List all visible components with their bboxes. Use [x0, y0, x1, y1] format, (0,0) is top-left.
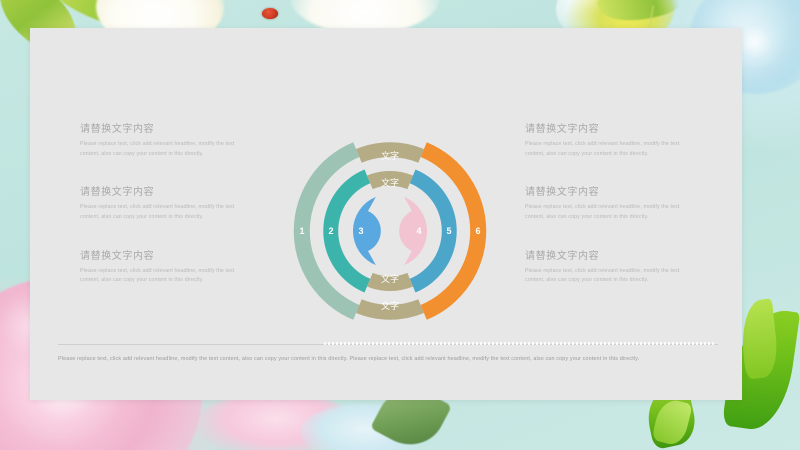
outer-right-label: 6: [475, 226, 480, 236]
text-block-body: Please replace text, click add relevant …: [80, 267, 240, 286]
text-block-title: 请替换文字内容: [525, 120, 685, 135]
footer-text: Please replace text, click add relevant …: [58, 354, 722, 365]
middle-bottom-label: 文字: [381, 273, 399, 284]
text-block-left-2[interactable]: 请替换文字内容 Please replace text, click add r…: [80, 183, 240, 222]
inner-segment-left[interactable]: [353, 197, 381, 265]
outer-top-label: 文字: [381, 150, 399, 161]
outer-left-label: 1: [299, 226, 304, 236]
middle-top-label: 文字: [381, 177, 399, 188]
middle-left-label: 2: [328, 226, 333, 236]
slide-content: 请替换文字内容 Please replace text, click add r…: [30, 28, 742, 400]
inner-left-label: 3: [358, 226, 363, 236]
text-block-right-1[interactable]: 请替换文字内容 Please replace text, click add r…: [525, 120, 685, 159]
text-block-body: Please replace text, click add relevant …: [525, 267, 685, 286]
text-block-title: 请替换文字内容: [525, 247, 685, 262]
text-block-body: Please replace text, click add relevant …: [80, 140, 240, 159]
text-block-right-3[interactable]: 请替换文字内容 Please replace text, click add r…: [525, 247, 685, 286]
text-block-body: Please replace text, click add relevant …: [80, 203, 240, 222]
text-block-left-1[interactable]: 请替换文字内容 Please replace text, click add r…: [80, 120, 240, 159]
outer-bottom-label: 文字: [381, 300, 399, 311]
left-text-column: 请替换文字内容 Please replace text, click add r…: [80, 120, 240, 310]
inner-right-label: 4: [416, 226, 421, 236]
ladybug-icon: [262, 8, 278, 19]
text-block-title: 请替换文字内容: [525, 183, 685, 198]
text-block-right-2[interactable]: 请替换文字内容 Please replace text, click add r…: [525, 183, 685, 222]
text-block-left-3[interactable]: 请替换文字内容 Please replace text, click add r…: [80, 247, 240, 286]
right-text-column: 请替换文字内容 Please replace text, click add r…: [525, 120, 685, 310]
inner-segment-right[interactable]: [399, 197, 427, 265]
text-block-title: 请替换文字内容: [80, 120, 240, 135]
text-block-title: 请替换文字内容: [80, 247, 240, 262]
footer-divider-dots: [324, 342, 716, 345]
concentric-donut-chart[interactable]: 1 6 文字 文字 2 5 文字 文字 3 4: [260, 126, 520, 336]
middle-right-label: 5: [446, 226, 451, 236]
text-block-title: 请替换文字内容: [80, 183, 240, 198]
text-block-body: Please replace text, click add relevant …: [525, 140, 685, 159]
donut-svg: 1 6 文字 文字 2 5 文字 文字 3 4: [260, 126, 520, 336]
text-block-body: Please replace text, click add relevant …: [525, 203, 685, 222]
slide-card: 请替换文字内容 Please replace text, click add r…: [30, 28, 742, 400]
